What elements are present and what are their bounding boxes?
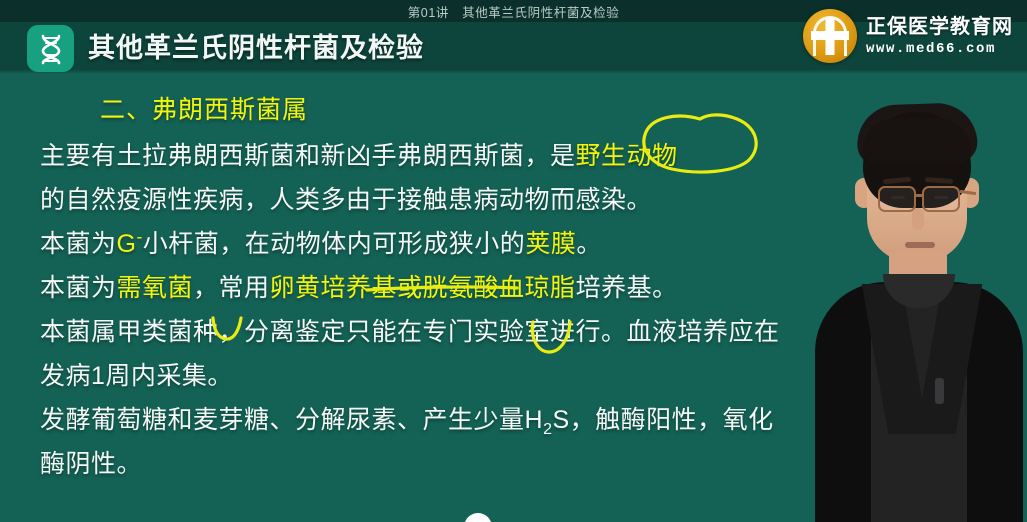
lecture-title-text: 第01讲 其他革兰氏阴性杆菌及检验 [408,2,620,21]
p5-text-a: 发酵葡萄糖和麦芽糖、分解尿素、产生少量H [40,406,543,434]
p2-text-b: 小杆菌，在动物体内可形成狭小的 [143,230,526,258]
p3-highlight-aerobe: 需氧菌 [117,274,194,302]
paragraph-3: 本菌为需氧菌，常用卵黄培养基或胱氨酸血琼脂培养基。 [40,266,790,310]
p3-text-b: ，常用 [193,274,270,302]
paragraph-5: 发酵葡萄糖和麦芽糖、分解尿素、产生少量H2S，触酶阳性，氧化酶阴性。 [40,398,790,486]
p3-text-c: 培养基。 [576,274,678,302]
section-heading: 二、弗朗西斯菌属 [100,88,790,132]
paragraph-4: 本菌属甲类菌种，分离鉴定只能在专门实验室进行。血液培养应在发病1周内采集。 [40,310,790,398]
brand-logo: 正保医学教育网 www.med66.com [803,8,1013,64]
p1-text-a: 主要有土拉弗朗西斯菌和新凶手弗朗西斯菌，是 [40,142,576,170]
p1-text-b: 的自然疫源性疾病，人类多由于接触患病动物而感染。 [40,186,652,214]
brand-url: www.med66.com [866,42,1013,56]
p1-highlight: 野生动物 [576,142,678,170]
page-title: 其他革兰氏阴性杆菌及检验 [88,26,424,65]
medical-cross-circle-icon [803,9,857,63]
p2-highlight-capsule: 荚膜 [525,230,576,258]
p2-text-a: 本菌为 [40,230,117,258]
slide-body: 二、弗朗西斯菌属 主要有土拉弗朗西斯菌和新凶手弗朗西斯菌，是野生动物的自然疫源性… [0,72,790,486]
lapel-microphone [935,378,944,404]
brand-text: 正保医学教育网 www.med66.com [866,17,1013,56]
p2-text-c: 。 [576,230,602,258]
lecture-video-frame: 第01讲 其他革兰氏阴性杆菌及检验 其他革兰氏阴性杆菌及检验 正保医学教育网 [0,0,1027,522]
brand-name: 正保医学教育网 [866,17,1013,37]
paragraph-1: 主要有土拉弗朗西斯菌和新凶手弗朗西斯菌，是野生动物的自然疫源性疾病，人类多由于接… [40,134,790,222]
presenter-video [779,60,1027,522]
paragraph-2: 本菌为G-小杆菌，在动物体内可形成狭小的荚膜。 [40,222,790,266]
p3-highlight-medium: 卵黄培养基或胱氨酸血琼脂 [270,274,576,302]
dna-helix-icon [27,25,74,72]
p2-gram-negative: G [117,230,137,258]
play-progress-dot[interactable] [464,513,492,522]
p3-text-a: 本菌为 [40,274,117,302]
